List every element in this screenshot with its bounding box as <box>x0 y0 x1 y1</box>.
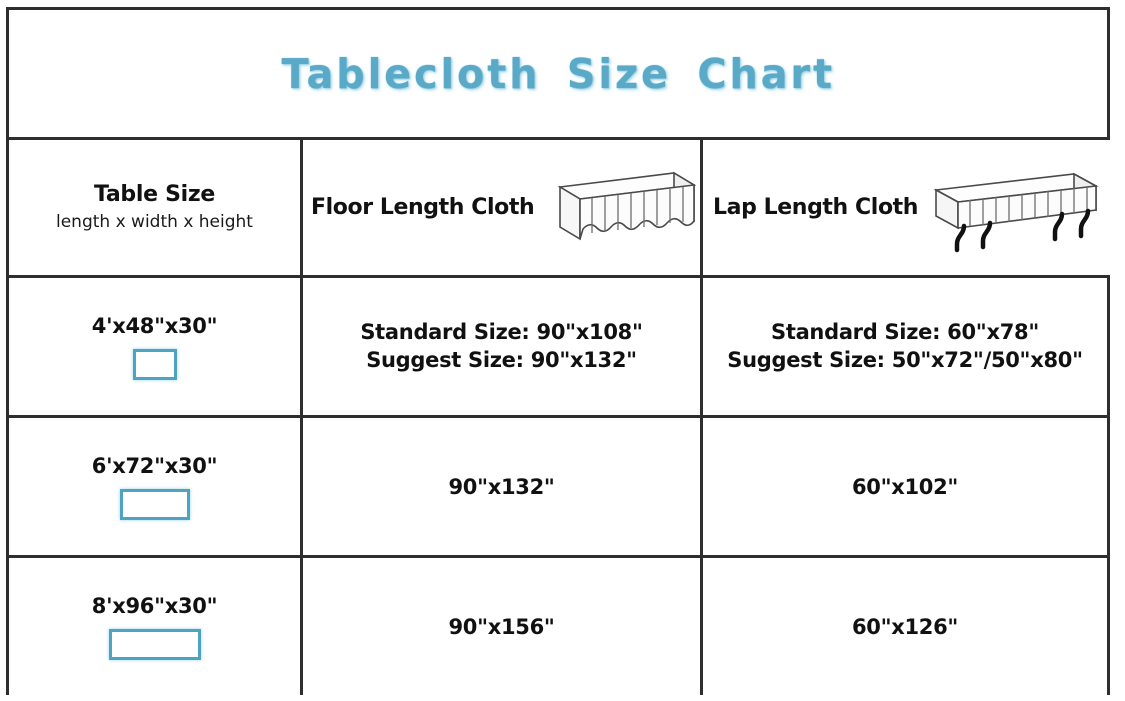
page-title: Tablecloth Size Chart <box>281 50 834 98</box>
table-size-value: 6'x72"x30" <box>92 454 217 478</box>
header-label-table-size: Table Size <box>94 182 215 209</box>
table-size-value: 4'x48"x30" <box>92 314 217 338</box>
floor-standard-size: 90"x156" <box>448 615 554 639</box>
size-table: Table Size length x width x height Floor… <box>9 140 1107 695</box>
chart-frame: Tablecloth Size Chart Table Size length … <box>6 7 1110 695</box>
floor-length-header-group: Floor Length Cloth <box>307 165 696 251</box>
floor-length-measurements: Standard Size: 90"x108" Suggest Size: 90… <box>360 319 642 374</box>
cell-floor-length-size: 90"x132" <box>303 418 703 555</box>
floor-length-cloth-icon <box>538 165 698 251</box>
lap-length-header-group: Lap Length Cloth <box>709 162 1104 254</box>
cell-lap-length-size: Standard Size: 60"x78" Suggest Size: 50"… <box>703 278 1107 415</box>
header-cell-table-size: Table Size length x width x height <box>9 140 303 275</box>
header-label-floor-length-cloth: Floor Length Cloth <box>311 195 534 220</box>
cell-table-size: 4'x48"x30" <box>9 278 303 415</box>
table-shape-swatch <box>120 489 190 520</box>
cell-lap-length-size: 60"x102" <box>703 418 1107 555</box>
cell-table-size: 8'x96"x30" <box>9 558 303 695</box>
header-cell-floor-length-cloth: Floor Length Cloth <box>303 140 703 275</box>
table-size-group: 8'x96"x30" <box>92 594 217 660</box>
table-shape-swatch <box>133 349 177 380</box>
floor-suggest-size: Suggest Size: 90"x132" <box>360 347 642 374</box>
lap-length-cloth-icon <box>922 162 1104 254</box>
lap-standard-size: Standard Size: 60"x78" <box>771 320 1039 344</box>
header-sublabel-dimensions: length x width x height <box>56 212 253 233</box>
cell-floor-length-size: Standard Size: 90"x108" Suggest Size: 90… <box>303 278 703 415</box>
table-row: 4'x48"x30" Standard Size: 90"x108" Sugge… <box>9 278 1107 418</box>
lap-standard-size: 60"x102" <box>852 475 958 499</box>
lap-suggest-size: Suggest Size: 50"x72"/50"x80" <box>727 347 1082 374</box>
table-shape-swatch <box>109 629 201 660</box>
table-size-value: 8'x96"x30" <box>92 594 217 618</box>
cell-floor-length-size: 90"x156" <box>303 558 703 695</box>
title-band: Tablecloth Size Chart <box>9 10 1107 140</box>
tablecloth-size-chart-page: Tablecloth Size Chart Table Size length … <box>0 0 1125 701</box>
table-size-header-stack: Table Size length x width x height <box>56 182 253 233</box>
floor-standard-size: Standard Size: 90"x108" <box>360 320 642 344</box>
lap-length-measurements: Standard Size: 60"x78" Suggest Size: 50"… <box>727 319 1082 374</box>
lap-standard-size: 60"x126" <box>852 615 958 639</box>
floor-standard-size: 90"x132" <box>448 475 554 499</box>
cell-table-size: 6'x72"x30" <box>9 418 303 555</box>
table-header-row: Table Size length x width x height Floor… <box>9 140 1107 278</box>
header-cell-lap-length-cloth: Lap Length Cloth <box>703 140 1110 275</box>
cell-lap-length-size: 60"x126" <box>703 558 1107 695</box>
table-size-group: 6'x72"x30" <box>92 454 217 520</box>
header-label-lap-length-cloth: Lap Length Cloth <box>713 195 918 220</box>
table-row: 8'x96"x30" 90"x156" 60"x126" <box>9 558 1107 695</box>
table-size-group: 4'x48"x30" <box>92 314 217 380</box>
table-row: 6'x72"x30" 90"x132" 60"x102" <box>9 418 1107 558</box>
